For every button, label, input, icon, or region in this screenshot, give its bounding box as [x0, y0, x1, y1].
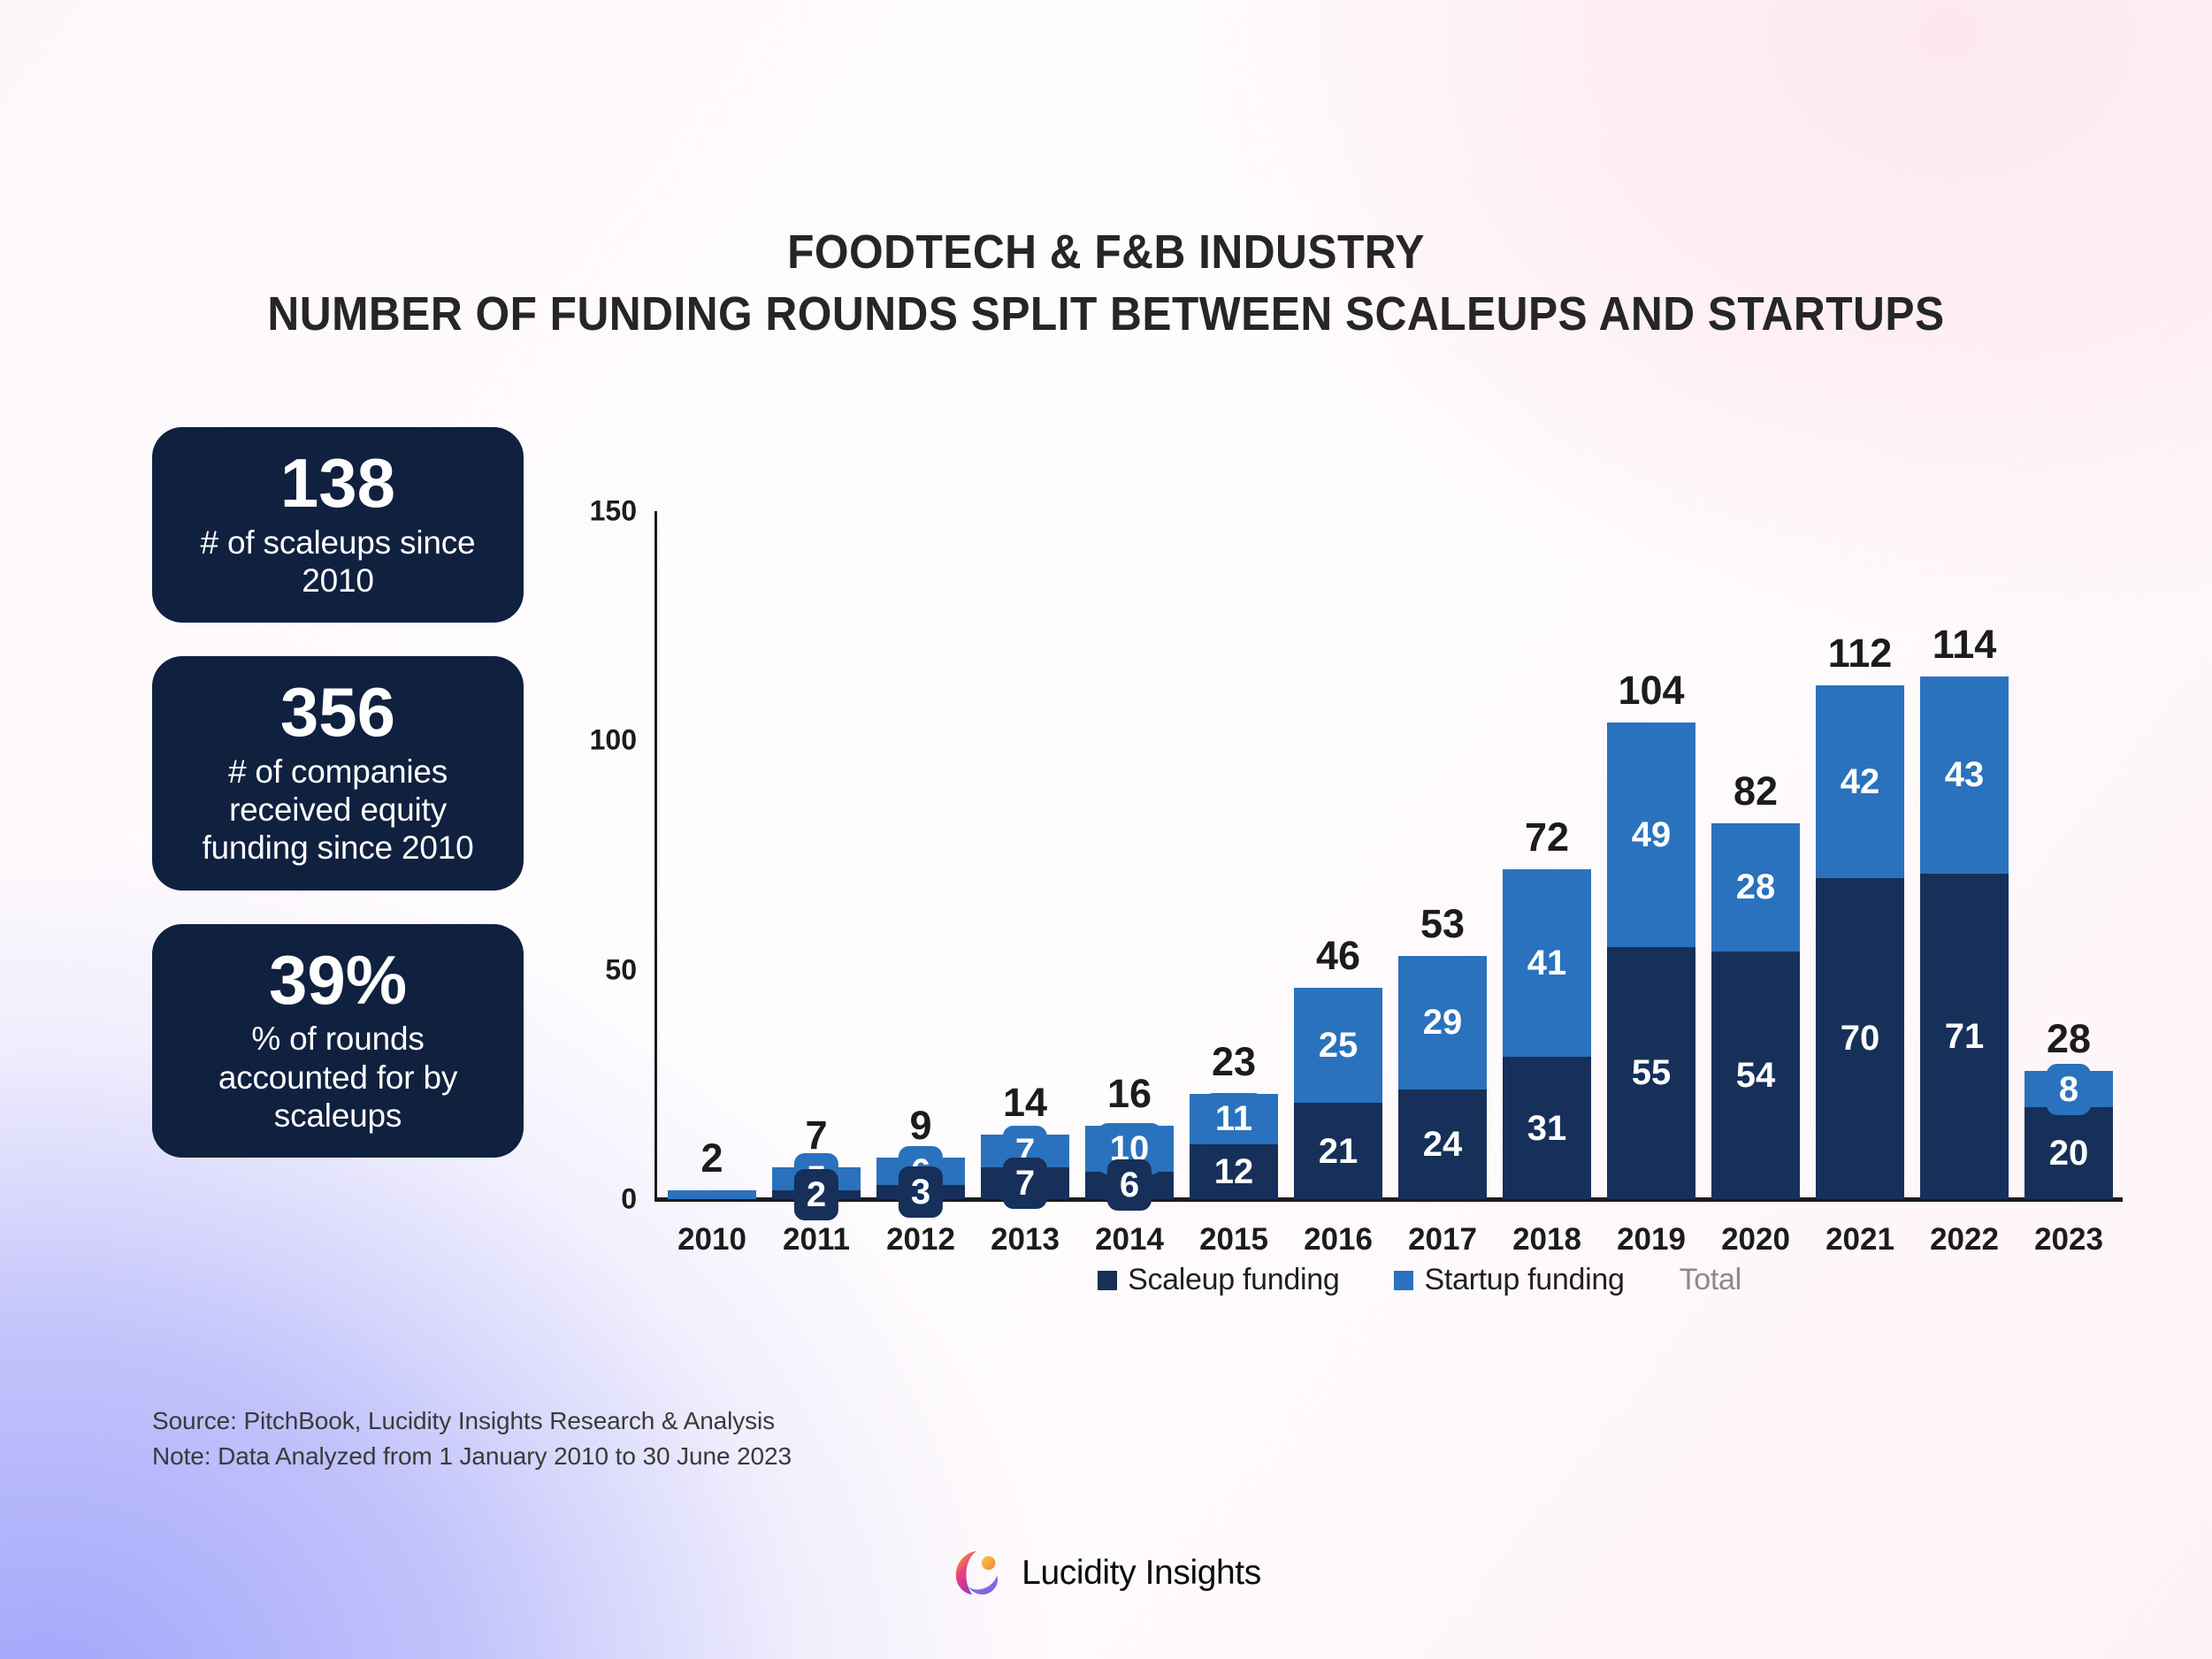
- bar-segment-scaleup[interactable]: 21: [1294, 1103, 1382, 1199]
- segment-value-label-scaleup: 71: [1945, 1019, 1985, 1054]
- segment-value-label-scaleup: 7: [1003, 1158, 1047, 1209]
- bar-total-label: 104: [1618, 670, 1684, 710]
- bar-total-label: 14: [1003, 1082, 1047, 1122]
- bar-stack[interactable]: 2521: [1294, 988, 1382, 1199]
- stat-card-scaleups: 138 # of scaleups since 2010: [152, 427, 524, 623]
- bar-stack[interactable]: 4131: [1503, 869, 1591, 1199]
- bar-segment-startup[interactable]: 8: [2024, 1071, 2113, 1107]
- segment-value-label-startup: 42: [1841, 764, 1880, 799]
- bar-segment-scaleup[interactable]: 2: [772, 1190, 861, 1199]
- bar-column[interactable]: 231112: [1182, 511, 1286, 1199]
- y-axis-tick: 150: [531, 495, 637, 528]
- bar-column[interactable]: 752: [764, 511, 869, 1199]
- segment-value-label-scaleup: 2: [794, 1169, 838, 1220]
- stat-label: % of rounds accounted for by scaleups: [175, 1020, 501, 1135]
- bar-segment-scaleup[interactable]: 54: [1711, 952, 1800, 1199]
- bar-segment-startup[interactable]: 43: [1920, 677, 2009, 874]
- bar-stack[interactable]: 820: [2024, 1071, 2113, 1199]
- bar-segment-startup[interactable]: 11: [1190, 1094, 1278, 1144]
- stat-value: 356: [175, 676, 501, 749]
- bar-segment-startup[interactable]: 29: [1398, 956, 1487, 1089]
- bar-column[interactable]: 822854: [1703, 511, 1808, 1199]
- bar-segment-scaleup[interactable]: 6: [1085, 1172, 1174, 1199]
- bar-column[interactable]: 462521: [1286, 511, 1390, 1199]
- lucidity-logo-icon: [951, 1546, 1006, 1601]
- bar-stack[interactable]: 1112: [1190, 1094, 1278, 1199]
- bar-segment-scaleup[interactable]: 7: [981, 1167, 1069, 1199]
- bar-stack[interactable]: 4371: [1920, 677, 2009, 1199]
- stat-label: # of companies received equity funding s…: [175, 753, 501, 868]
- bar-column[interactable]: 2: [660, 511, 764, 1199]
- segment-value-label-scaleup: 20: [2049, 1135, 2089, 1171]
- segment-value-label-scaleup: 3: [899, 1166, 943, 1218]
- bar-column[interactable]: 1044955: [1599, 511, 1703, 1199]
- bar-segment-startup[interactable]: 25: [1294, 988, 1382, 1103]
- stat-card-companies: 356 # of companies received equity fundi…: [152, 656, 524, 891]
- y-axis-line: [654, 511, 657, 1199]
- stat-label: # of scaleups since 2010: [175, 524, 501, 600]
- bar-segment-startup[interactable]: 49: [1607, 722, 1695, 947]
- segment-value-label-startup: 49: [1632, 817, 1672, 852]
- segment-value-label-scaleup: 55: [1632, 1055, 1672, 1090]
- bar-total-label: 72: [1525, 817, 1569, 857]
- legend-label: Total: [1680, 1263, 1741, 1297]
- bar-total-label: 46: [1316, 936, 1360, 975]
- bar-column[interactable]: 963: [869, 511, 973, 1199]
- legend-label: Scaleup funding: [1128, 1263, 1339, 1297]
- x-axis-tick: 2023: [2007, 1222, 2131, 1258]
- bar-segment-scaleup[interactable]: 31: [1503, 1057, 1591, 1199]
- bar-column[interactable]: 16106: [1077, 511, 1182, 1199]
- bar-total-label: 23: [1212, 1042, 1256, 1082]
- bar-stack[interactable]: 2854: [1711, 823, 1800, 1199]
- chart-legend: Scaleup funding Startup funding Total: [584, 1263, 2140, 1297]
- segment-value-label-scaleup: 12: [1202, 1146, 1267, 1197]
- bar-stack[interactable]: 106: [1085, 1126, 1174, 1199]
- bar-segment-startup[interactable]: 42: [1816, 685, 1904, 878]
- data-note: Note: Data Analyzed from 1 January 2010 …: [152, 1439, 792, 1474]
- segment-value-label-startup: 43: [1945, 757, 1985, 792]
- bar-total-label: 7: [805, 1115, 827, 1155]
- bar-column[interactable]: 1477: [973, 511, 1077, 1199]
- bar-total-label: 114: [1933, 624, 1997, 664]
- bar-column[interactable]: 532924: [1390, 511, 1495, 1199]
- bar-total-label: 9: [909, 1105, 931, 1145]
- segment-value-label-scaleup: 54: [1736, 1058, 1776, 1093]
- brand-name: Lucidity Insights: [1022, 1554, 1261, 1593]
- title-line-1: FOODTECH & F&B INDUSTRY: [88, 221, 2124, 283]
- segment-value-label-scaleup: 70: [1841, 1021, 1880, 1056]
- bar-segment-scaleup[interactable]: 12: [1190, 1144, 1278, 1199]
- legend-label: Startup funding: [1424, 1263, 1624, 1297]
- bar-total-label: 82: [1734, 771, 1778, 811]
- bar-column[interactable]: 724131: [1495, 511, 1599, 1199]
- bar-total-label: 112: [1828, 633, 1893, 673]
- segment-value-label-startup: 29: [1423, 1005, 1463, 1040]
- bar-segment-startup[interactable]: [668, 1190, 756, 1199]
- footer-brand: Lucidity Insights: [0, 1546, 2212, 1601]
- legend-item-startup: Startup funding: [1394, 1263, 1624, 1297]
- segment-value-label-startup: 11: [1203, 1093, 1265, 1144]
- bar-stack[interactable]: 4270: [1816, 685, 1904, 1199]
- segment-value-label-startup: 25: [1319, 1028, 1359, 1063]
- bar-stack[interactable]: [668, 1190, 756, 1199]
- segment-value-label-startup: 8: [2047, 1064, 2091, 1115]
- stat-card-list: 138 # of scaleups since 2010 356 # of co…: [152, 427, 524, 1191]
- footnotes: Source: PitchBook, Lucidity Insights Res…: [152, 1403, 792, 1474]
- bar-segment-startup[interactable]: 28: [1711, 823, 1800, 952]
- bar-segment-scaleup[interactable]: 70: [1816, 878, 1904, 1199]
- stat-card-percent-rounds: 39% % of rounds accounted for by scaleup…: [152, 924, 524, 1158]
- source-note: Source: PitchBook, Lucidity Insights Res…: [152, 1403, 792, 1439]
- bar-stack[interactable]: 63: [876, 1158, 965, 1199]
- bar-total-label: 53: [1420, 904, 1465, 944]
- segment-value-label-scaleup: 24: [1423, 1127, 1463, 1162]
- bar-total-label: 28: [2047, 1019, 2091, 1059]
- bar-segment-scaleup[interactable]: 71: [1920, 874, 2009, 1199]
- legend-swatch-scaleup: [1098, 1271, 1117, 1290]
- segment-value-label-scaleup: 21: [1319, 1134, 1359, 1169]
- bar-stack[interactable]: 77: [981, 1135, 1069, 1199]
- stat-value: 138: [175, 447, 501, 520]
- bar-segment-startup[interactable]: 41: [1503, 869, 1591, 1058]
- bar-column[interactable]: 1144371: [1912, 511, 2017, 1199]
- bar-group: 2752963147716106231112462521532924724131…: [660, 511, 2121, 1199]
- page-title: FOODTECH & F&B INDUSTRY NUMBER OF FUNDIN…: [0, 221, 2212, 345]
- bar-segment-scaleup[interactable]: 20: [2024, 1107, 2113, 1199]
- segment-value-label-scaleup: 6: [1107, 1159, 1152, 1211]
- bar-stack[interactable]: 4955: [1607, 722, 1695, 1199]
- segment-value-label-scaleup: 31: [1527, 1111, 1567, 1146]
- bar-total-label: 2: [700, 1138, 723, 1178]
- bar-segment-scaleup[interactable]: 55: [1607, 947, 1695, 1199]
- bar-column[interactable]: 1124270: [1808, 511, 1912, 1199]
- title-line-2: NUMBER OF FUNDING ROUNDS SPLIT BETWEEN S…: [88, 283, 2124, 345]
- stat-value: 39%: [175, 944, 501, 1017]
- bar-stack[interactable]: 52: [772, 1167, 861, 1199]
- segment-value-label-startup: 41: [1527, 945, 1567, 981]
- legend-item-scaleup: Scaleup funding: [1098, 1263, 1339, 1297]
- segment-value-label-startup: 28: [1736, 869, 1776, 905]
- bar-segment-scaleup[interactable]: 24: [1398, 1089, 1487, 1199]
- bar-total-label: 16: [1107, 1074, 1152, 1113]
- y-axis-tick: 50: [531, 953, 637, 986]
- bar-segment-scaleup[interactable]: 3: [876, 1185, 965, 1199]
- legend-swatch-startup: [1394, 1271, 1413, 1290]
- bar-stack[interactable]: 2924: [1398, 956, 1487, 1199]
- y-axis-tick: 0: [531, 1183, 637, 1216]
- bar-column[interactable]: 28820: [2017, 511, 2121, 1199]
- stacked-bar-chart: 050100150 275296314771610623111246252153…: [584, 478, 2140, 1326]
- legend-item-total: Total: [1680, 1263, 1741, 1297]
- y-axis-tick: 100: [531, 724, 637, 757]
